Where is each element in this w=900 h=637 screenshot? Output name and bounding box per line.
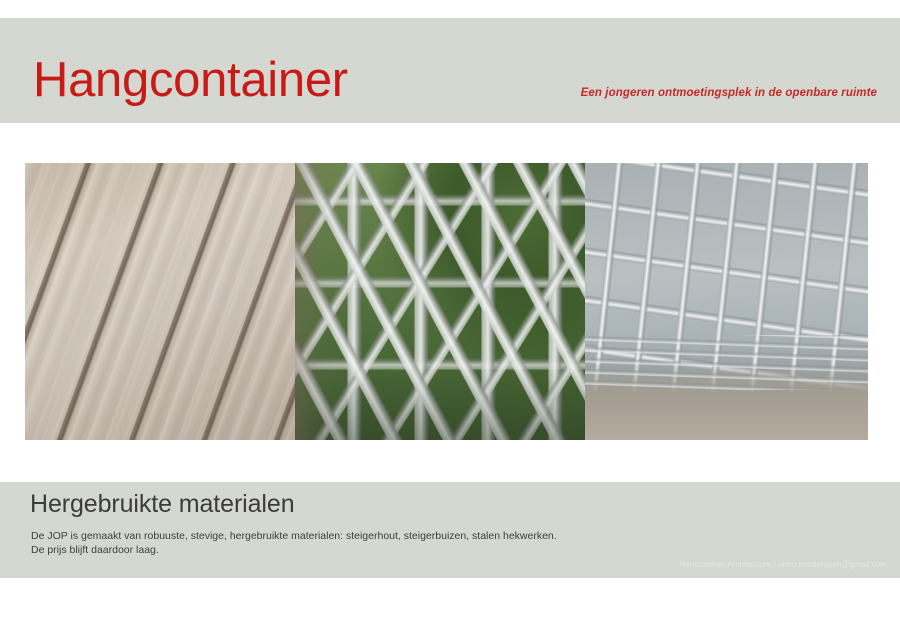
photo-steel-mesh-panels xyxy=(585,163,868,440)
section-body-text: De JOP is gemaakt van robuuste, stevige,… xyxy=(31,529,557,557)
page-title: Hangcontainer xyxy=(33,52,348,108)
page-subtitle: Een jongeren ontmoetingsplek in de openb… xyxy=(581,86,877,100)
photo-strip xyxy=(25,163,868,440)
footer-credit: Nononsense Architecture I nono.vandervee… xyxy=(679,559,887,570)
photo-scaffolding-tubes xyxy=(295,163,585,440)
section-heading: Hergebruikte materialen xyxy=(30,489,295,519)
slide-root: { "header": { "title": "Hangcontainer", … xyxy=(0,0,900,637)
photo-scaffolding-planks xyxy=(25,163,295,440)
